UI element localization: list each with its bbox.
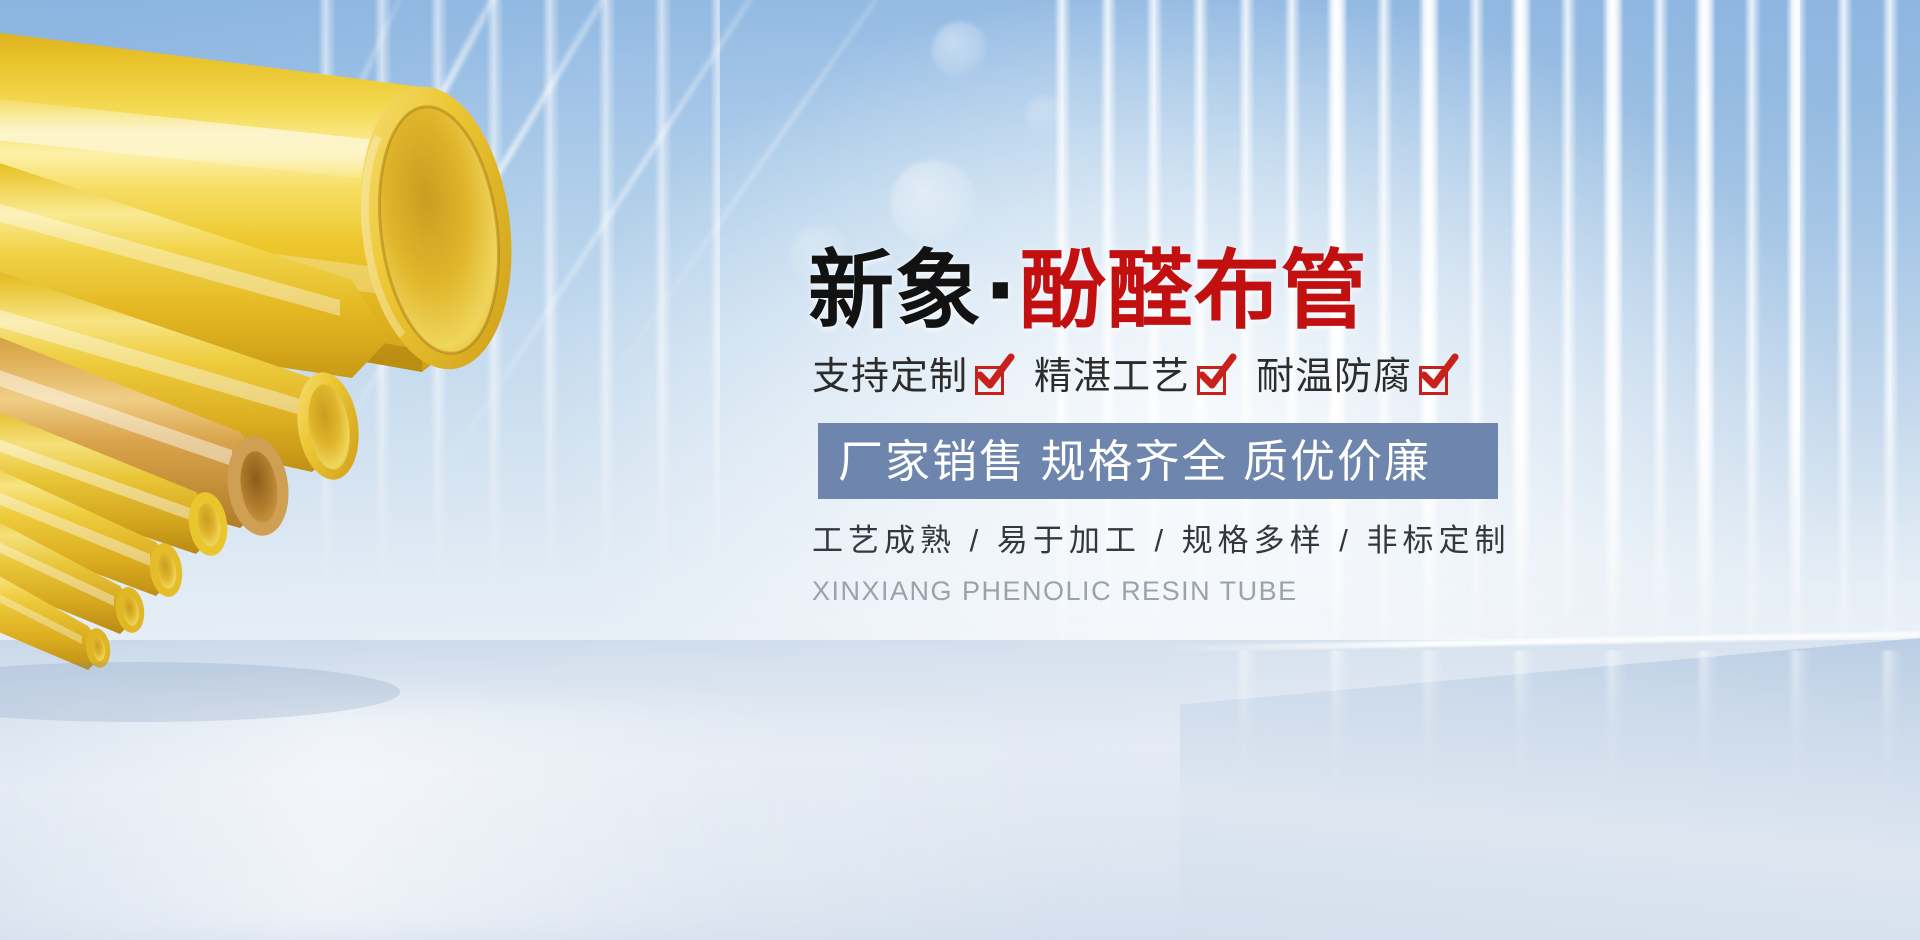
background-floor-reflection [1210, 650, 1920, 820]
tagline: 工艺成熟 / 易于加工 / 规格多样 / 非标定制 [812, 525, 1612, 556]
title-separator: · [982, 241, 1020, 341]
feature-list: 支持定制 精湛工艺 耐温防腐 [812, 358, 1612, 396]
title-brand: 新象 [808, 241, 982, 341]
feature-label: 耐温防腐 [1256, 358, 1412, 396]
check-box-icon [1419, 366, 1448, 395]
promo-banner: 新象·酚醛布管 支持定制 精湛工艺 耐温防腐 [0, 0, 1920, 940]
feature-item-1: 精湛工艺 [1034, 358, 1226, 396]
page-title: 新象·酚醛布管 [808, 248, 1612, 334]
english-subtitle: XINXIANG PHENOLIC RESIN TUBE [812, 578, 1612, 605]
check-box-icon [1197, 366, 1226, 395]
background-floor-streak [0, 700, 1300, 940]
feature-item-0: 支持定制 [812, 358, 1004, 396]
highlight-bar-text: 厂家销售 规格齐全 质优价廉 [818, 439, 1431, 484]
banner-copy: 新象·酚醛布管 支持定制 精湛工艺 耐温防腐 [812, 248, 1612, 605]
feature-label: 支持定制 [812, 358, 968, 396]
feature-label: 精湛工艺 [1034, 358, 1190, 396]
highlight-bar: 厂家销售 规格齐全 质优价廉 [818, 423, 1498, 499]
check-box-icon [975, 366, 1004, 395]
title-product: 酚醛布管 [1020, 241, 1368, 341]
feature-item-2: 耐温防腐 [1256, 358, 1448, 396]
background-wall-slats-left [300, 0, 720, 640]
